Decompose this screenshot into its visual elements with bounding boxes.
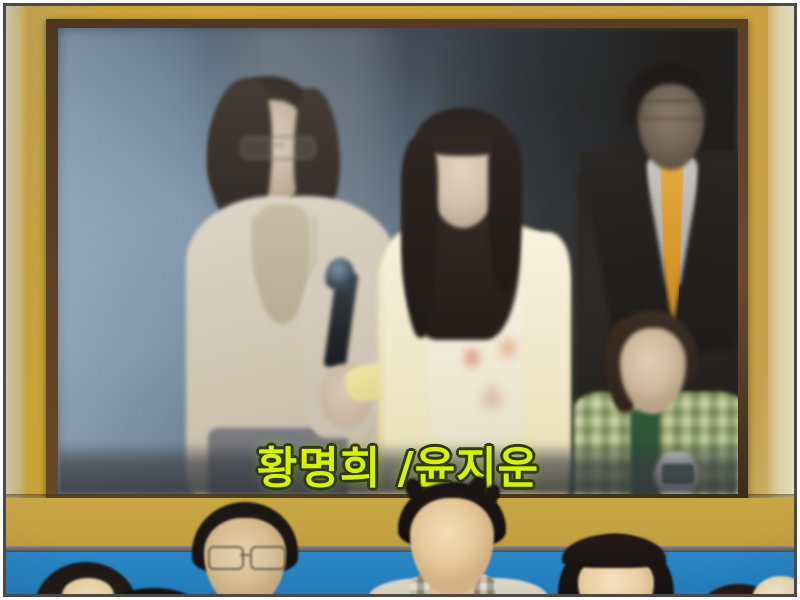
girl-in-cardigan-shirt-print [456,328,536,428]
wall-right-strip [768,6,794,500]
man-in-suit-glasses-icon [640,100,706,120]
audience-man-glasses-lens-right [250,546,286,570]
wall-left-strip [6,6,28,500]
photo-frame: 황명희 /윤지운 [0,0,800,600]
woman-with-microphone-glasses-bridge [272,144,284,146]
audience-man-glasses-lens-left [208,546,244,570]
photo-border: 황명희 /윤지운 [3,3,797,597]
audience-man-glasses-bridge [240,554,250,556]
woman-with-microphone-glasses-icon [240,136,316,160]
scene: 황명희 /윤지운 [6,6,794,594]
projection-screen: 황명희 /윤지운 [58,28,738,494]
projection-bottom-shadow [58,442,738,494]
